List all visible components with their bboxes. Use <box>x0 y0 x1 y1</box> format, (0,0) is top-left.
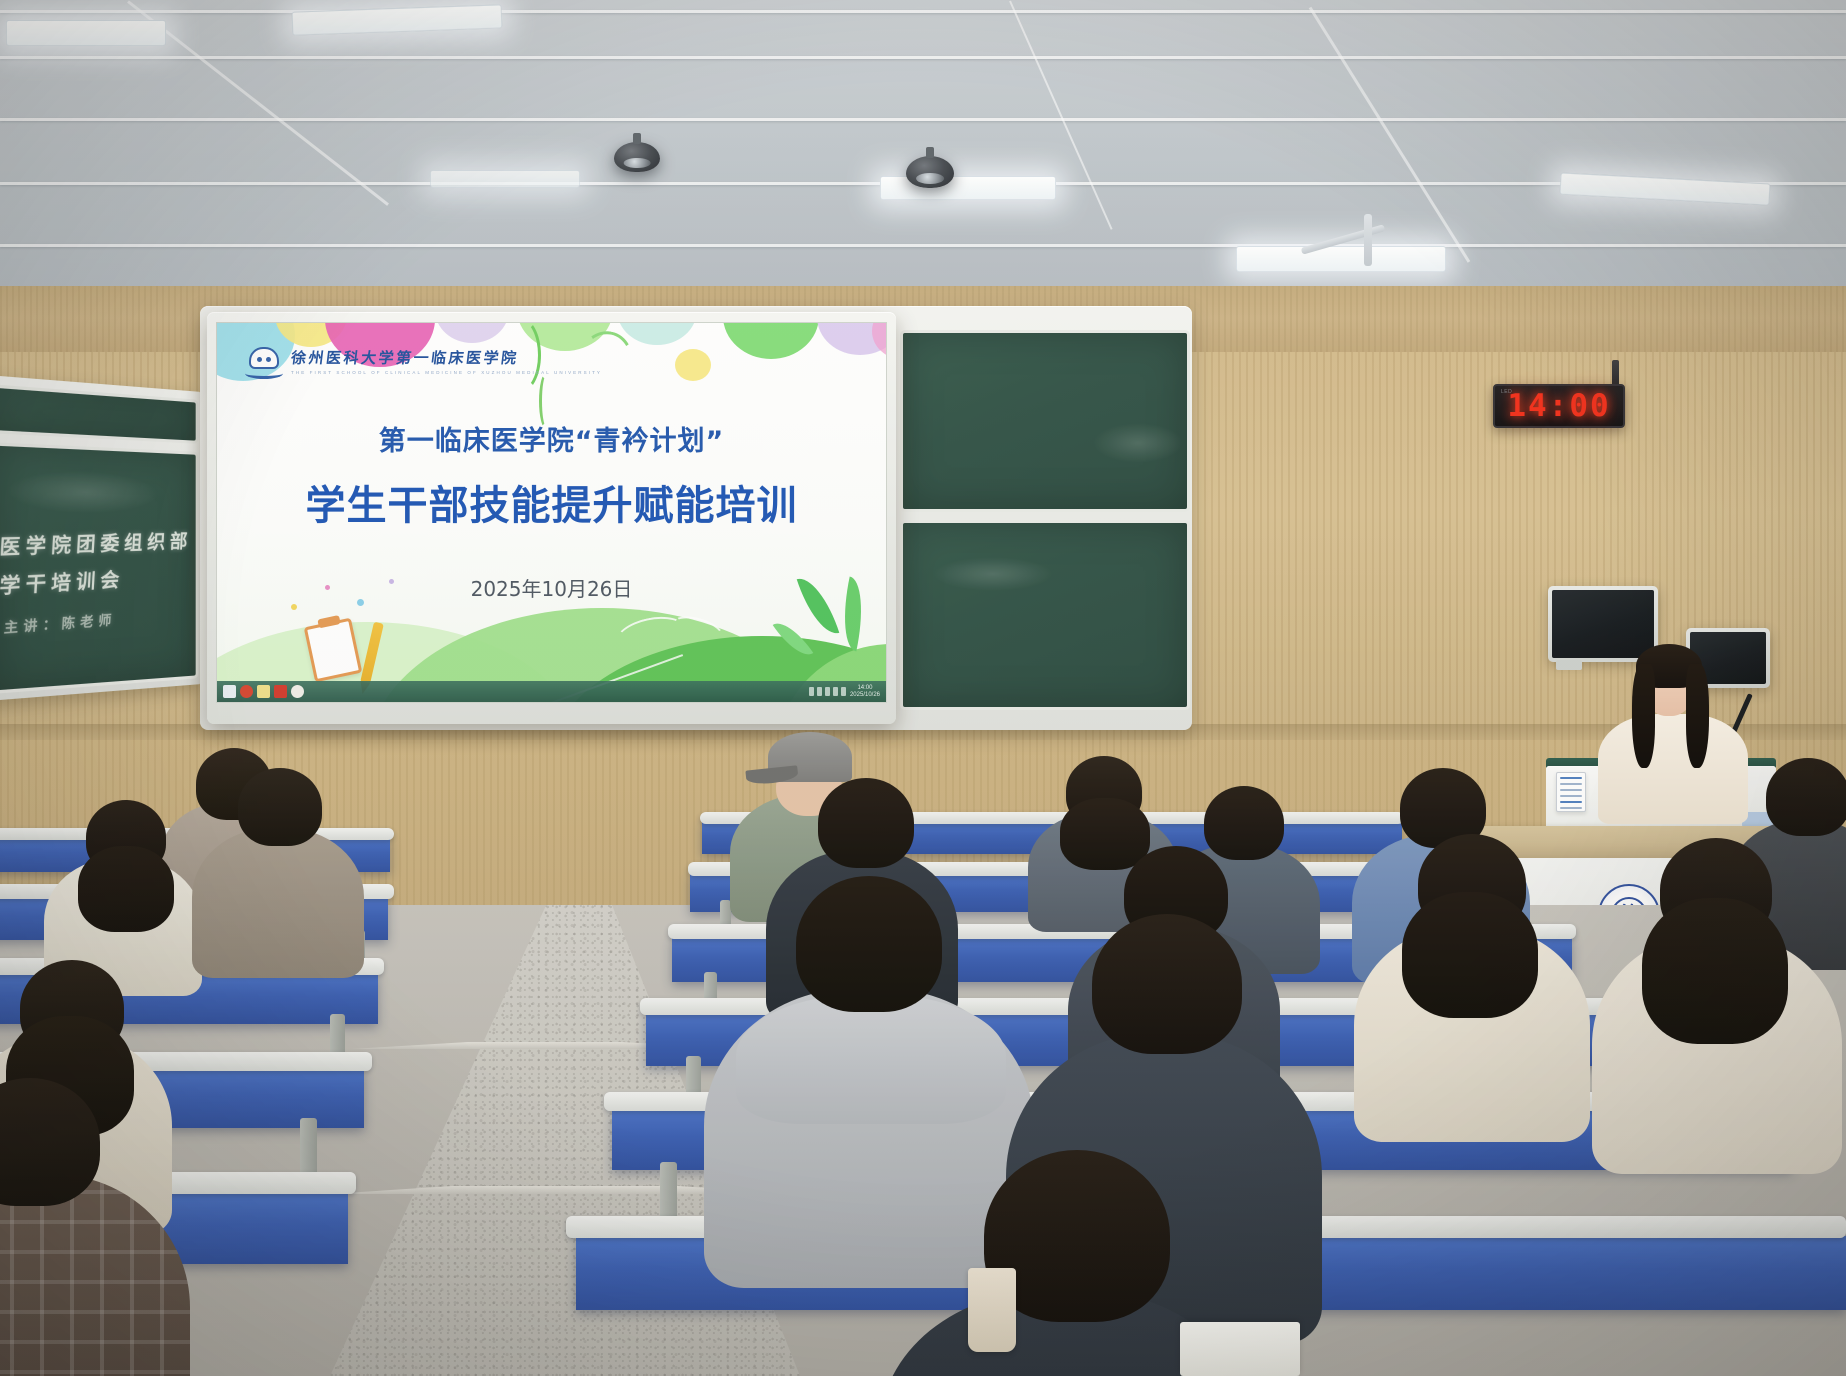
slide-subtitle: 第一临床医学院“青衿计划” <box>217 419 886 458</box>
university-mark-icon <box>245 347 283 379</box>
projected-taskbar[interactable]: 14:00 2025/10/26 <box>217 681 886 702</box>
clock-brand-label: LED <box>1501 389 1512 395</box>
decor-dot <box>325 585 330 590</box>
projection-screen[interactable]: 徐州医科大学第一临床医学院 THE FIRST SCHOOL OF CLINIC… <box>207 312 896 724</box>
clock-time-display: 14:00 <box>1507 391 1610 422</box>
chalk-line-2: 学干培训会 <box>0 564 125 599</box>
battery-icon[interactable] <box>833 687 838 696</box>
blackboard-left: 医学院团委组织部 学干培训会 主讲：陈老师 <box>0 375 202 701</box>
chalk-line-3: 主讲：陈老师 <box>3 609 117 638</box>
monitor-stand <box>1556 660 1582 670</box>
chevron-up-icon[interactable] <box>809 687 814 696</box>
taskbar-clock-time: 14:00 <box>857 685 872 691</box>
chalk-line-1: 医学院团委组织部 <box>0 526 193 561</box>
decor-balloon-lilac <box>435 322 509 343</box>
decor-balloon-green <box>723 322 819 359</box>
decor-dot <box>357 599 364 606</box>
notes-icon[interactable] <box>257 685 270 698</box>
handout-paper <box>1180 1322 1300 1376</box>
slide-date: 2025年10月26日 <box>217 573 886 602</box>
digital-wall-clock: LED 14:00 <box>1493 384 1625 428</box>
network-icon[interactable] <box>817 687 822 696</box>
blackboard-right-lower <box>900 520 1190 710</box>
speaker-body <box>1598 714 1748 824</box>
slide-content: 徐州医科大学第一临床医学院 THE FIRST SCHOOL OF CLINIC… <box>216 322 887 703</box>
pdf-icon[interactable] <box>274 685 287 698</box>
paper-cup <box>968 1268 1016 1352</box>
system-tray[interactable] <box>809 687 846 696</box>
ceiling-camera-icon <box>906 156 954 188</box>
ceiling <box>0 0 1846 292</box>
decor-dot <box>291 604 297 610</box>
wall-monitor-large <box>1548 586 1658 662</box>
decor-dot <box>389 579 394 584</box>
slide-main-title: 学生干部技能提升赋能培训 <box>217 473 886 531</box>
ime-icon[interactable] <box>841 687 846 696</box>
decor-balloon-yellow-2 <box>675 349 711 381</box>
taskbar-clock-date: 2025/10/26 <box>850 692 880 698</box>
org-logo-chinese: 徐州医科大学第一临床医学院 <box>290 351 603 366</box>
speaker-hair-left <box>1632 664 1655 768</box>
decor-balloon-cyan-2 <box>617 322 697 345</box>
clock-mount <box>1612 360 1619 386</box>
lecture-hall-scene: 医学院团委组织部 学干培训会 主讲：陈老师 <box>0 0 1846 1376</box>
taskbar-clock[interactable]: 14:00 2025/10/26 <box>850 685 880 698</box>
decor-balloon-pink-2 <box>872 322 887 359</box>
start-icon[interactable] <box>223 685 236 698</box>
folder-icon[interactable] <box>240 685 253 698</box>
org-logo-english: THE FIRST SCHOOL OF CLINICAL MEDICINE OF… <box>291 370 602 375</box>
slide-org-logo: 徐州医科大学第一临床医学院 THE FIRST SCHOOL OF CLINIC… <box>245 347 602 379</box>
volume-icon[interactable] <box>825 687 830 696</box>
speaker-hair-right <box>1686 664 1709 768</box>
ceiling-camera-icon <box>614 142 660 172</box>
blackboard-right-upper <box>900 330 1190 512</box>
podium-document <box>1556 772 1586 812</box>
browser-icon[interactable] <box>291 685 304 698</box>
